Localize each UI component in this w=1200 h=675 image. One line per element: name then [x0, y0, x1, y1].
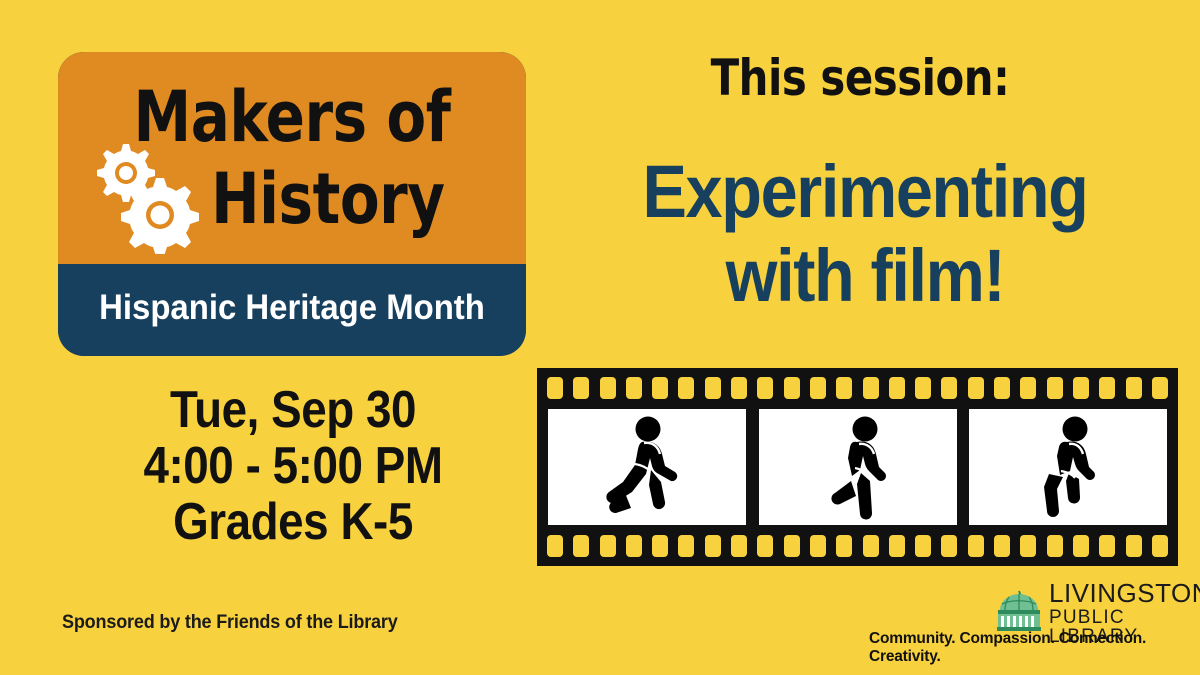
badge-subtitle: Hispanic Heritage Month	[72, 284, 512, 332]
film-sprocket-hole	[1099, 535, 1115, 557]
film-sprocket-hole	[915, 377, 931, 399]
film-sprocket-hole	[652, 535, 668, 557]
film-frames	[548, 409, 1167, 525]
film-sprocket-hole	[1020, 535, 1036, 557]
film-sprocket-hole	[652, 377, 668, 399]
gears-icon	[78, 134, 208, 254]
film-sprocket-hole	[573, 535, 589, 557]
film-sprocket-hole	[626, 535, 642, 557]
film-sprocket-hole	[1152, 535, 1168, 557]
film-sprocket-hole	[994, 377, 1010, 399]
film-sprockets-top	[547, 377, 1168, 399]
film-sprocket-hole	[836, 535, 852, 557]
film-sprocket-hole	[784, 535, 800, 557]
film-sprocket-hole	[1020, 377, 1036, 399]
film-sprocket-hole	[994, 535, 1010, 557]
film-sprocket-hole	[547, 377, 563, 399]
event-details: Tue, Sep 30 4:00 - 5:00 PM Grades K-5	[58, 382, 528, 550]
film-sprocket-hole	[731, 535, 747, 557]
film-sprocket-hole	[915, 535, 931, 557]
film-sprocket-hole	[626, 377, 642, 399]
film-sprocket-hole	[757, 377, 773, 399]
film-sprocket-hole	[968, 377, 984, 399]
film-sprocket-hole	[547, 535, 563, 557]
running-figure-frame-1	[548, 409, 746, 525]
film-sprocket-hole	[1073, 535, 1089, 557]
event-grades: Grades K-5	[86, 494, 500, 550]
film-sprocket-hole	[731, 377, 747, 399]
library-tagline: Community. Compassion. Connection. Creat…	[869, 630, 1200, 666]
session-title-line-2: with film!	[591, 234, 1140, 318]
film-sprocket-hole	[784, 377, 800, 399]
library-name: LIVINGSTON	[1049, 580, 1200, 606]
film-strip-icon	[537, 368, 1178, 566]
makers-of-history-badge: Makers of History Hispanic Heritage Mont…	[58, 52, 526, 356]
film-sprocket-hole	[941, 377, 957, 399]
film-sprocket-hole	[810, 535, 826, 557]
film-sprocket-hole	[1073, 377, 1089, 399]
film-sprocket-hole	[1099, 377, 1115, 399]
film-sprocket-hole	[1126, 535, 1142, 557]
film-sprocket-hole	[705, 535, 721, 557]
film-sprocket-hole	[1126, 377, 1142, 399]
film-sprocket-hole	[863, 377, 879, 399]
film-sprocket-hole	[1152, 377, 1168, 399]
event-date: Tue, Sep 30	[86, 382, 500, 438]
film-sprocket-hole	[889, 535, 905, 557]
session-title-line-1: Experimenting	[591, 150, 1140, 234]
film-sprocket-hole	[863, 535, 879, 557]
film-sprocket-hole	[968, 535, 984, 557]
film-sprocket-hole	[678, 377, 694, 399]
film-sprocket-hole	[757, 535, 773, 557]
running-figure-frame-2	[759, 409, 957, 525]
film-sprocket-hole	[1047, 377, 1063, 399]
sponsor-text: Sponsored by the Friends of the Library	[62, 612, 398, 634]
film-sprocket-hole	[1047, 535, 1063, 557]
event-time: 4:00 - 5:00 PM	[86, 438, 500, 494]
film-sprocket-hole	[573, 377, 589, 399]
film-sprocket-hole	[810, 377, 826, 399]
session-label: This session:	[581, 50, 1139, 106]
film-sprocket-hole	[678, 535, 694, 557]
session-title: Experimenting with film!	[560, 150, 1170, 318]
film-sprocket-hole	[600, 377, 616, 399]
running-figure-frame-3	[969, 409, 1167, 525]
film-sprocket-hole	[836, 377, 852, 399]
film-sprockets-bottom	[547, 535, 1168, 557]
film-sprocket-hole	[705, 377, 721, 399]
film-sprocket-hole	[941, 535, 957, 557]
film-sprocket-hole	[889, 377, 905, 399]
film-sprocket-hole	[600, 535, 616, 557]
